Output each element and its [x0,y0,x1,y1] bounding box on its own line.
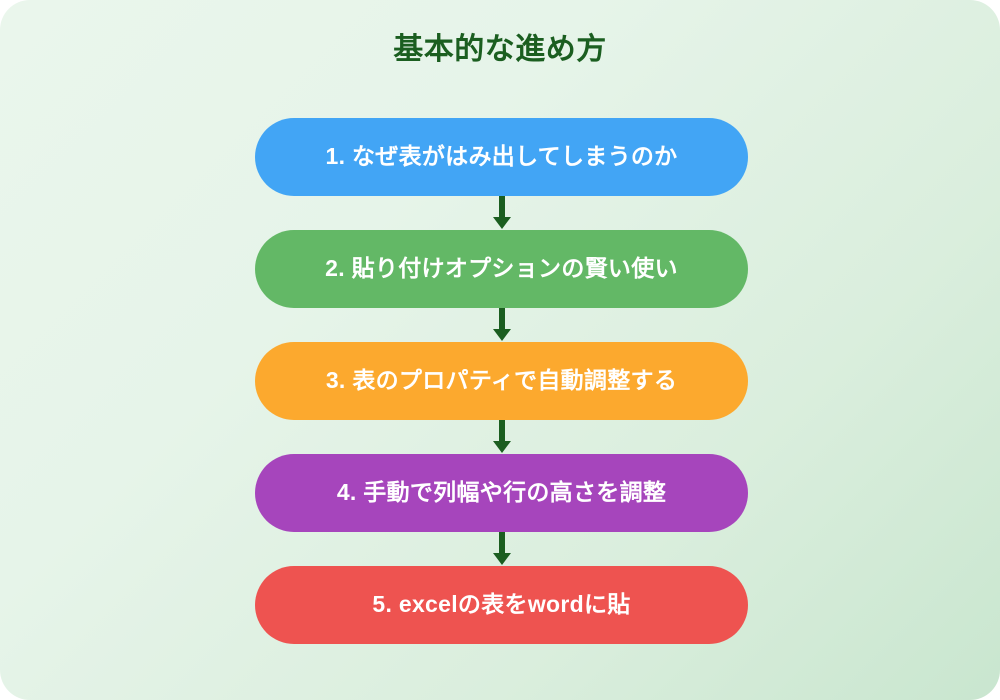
flow-node-label-4: 4. 手動で列幅や行の高さを調整 [337,479,666,507]
page-title: 基本的な進め方 [0,32,1000,68]
arrow-down-icon [491,420,513,454]
flow-row-1: 1. なぜ表がはみ出してしまうのか [255,118,748,196]
flow-node-label-3: 3. 表のプロパティで自動調整する [326,367,677,395]
flow-node-step-2[interactable]: 2. 貼り付けオプションの賢い使い [255,230,748,308]
flow-connector-3-4 [255,420,748,454]
flow-connector-2-3 [255,308,748,342]
flow-node-label-2: 2. 貼り付けオプションの賢い使い [325,255,678,283]
flow-node-step-5[interactable]: 5. excelの表をwordに貼 [255,566,748,644]
flow-node-label-1: 1. なぜ表がはみ出してしまうのか [326,143,678,171]
flow-connector-4-5 [255,532,748,566]
flowchart: 1. なぜ表がはみ出してしまうのか 2. 貼り付けオプションの賢い使い 3. [255,118,748,644]
flow-row-3: 3. 表のプロパティで自動調整する [255,342,748,420]
flow-row-4: 4. 手動で列幅や行の高さを調整 [255,454,748,532]
arrow-down-icon [491,532,513,566]
arrow-down-icon [491,308,513,342]
flow-node-step-4[interactable]: 4. 手動で列幅や行の高さを調整 [255,454,748,532]
flow-connector-1-2 [255,196,748,230]
flow-row-5: 5. excelの表をwordに貼 [255,566,748,644]
diagram-canvas: 基本的な進め方 1. なぜ表がはみ出してしまうのか 2. 貼り付けオプションの賢… [0,0,1000,700]
flow-node-label-5: 5. excelの表をwordに貼 [372,591,630,619]
arrow-down-icon [491,196,513,230]
flow-node-step-1[interactable]: 1. なぜ表がはみ出してしまうのか [255,118,748,196]
flow-row-2: 2. 貼り付けオプションの賢い使い [255,230,748,308]
flow-node-step-3[interactable]: 3. 表のプロパティで自動調整する [255,342,748,420]
